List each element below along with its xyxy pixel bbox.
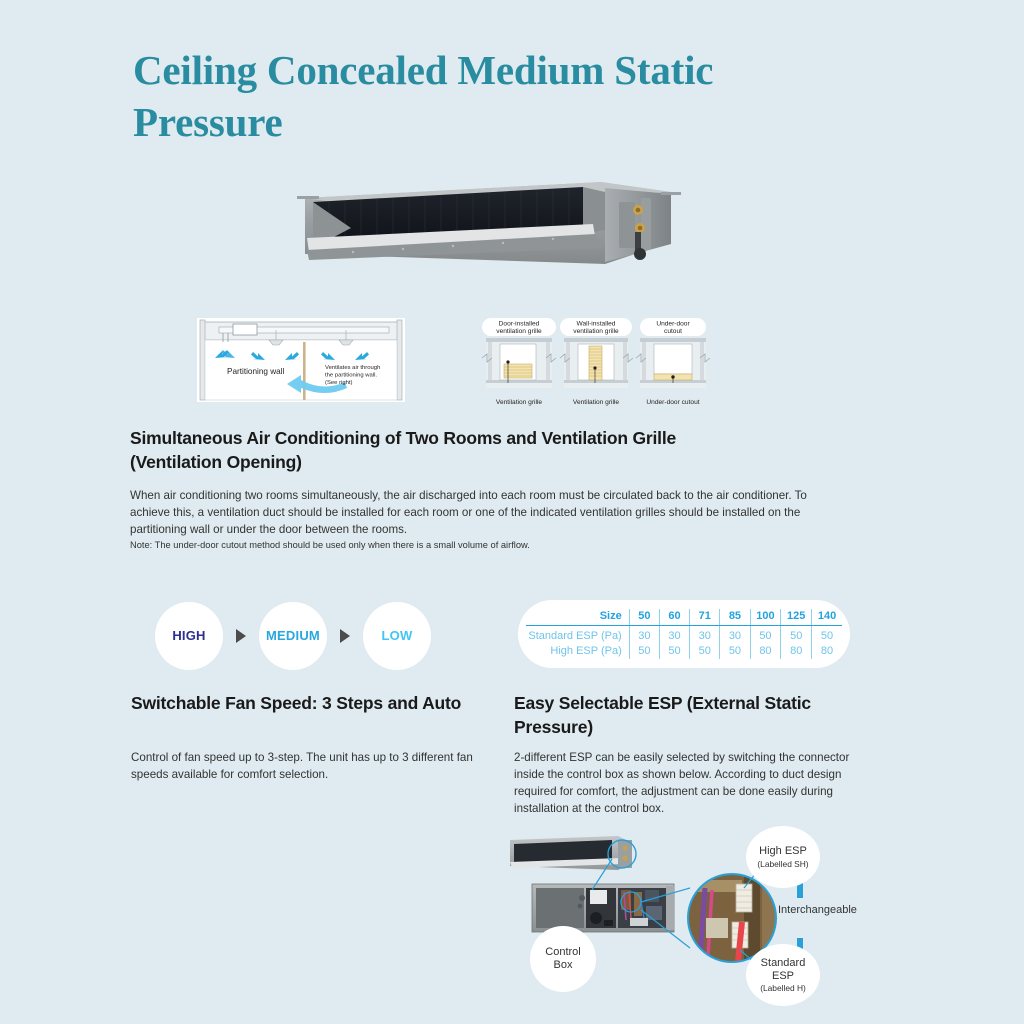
vent-option-door-grille: Door-installed ventilation grille Ventil… [482,318,556,406]
esp-high-50: 50 [629,644,659,659]
esp-standard-125: 50 [781,626,812,645]
svg-text:Ventilation grille: Ventilation grille [496,399,543,406]
page-title: Ceiling Concealed Medium Static Pressure [133,44,833,149]
esp-standard-71: 30 [690,626,720,645]
esp-size-125: 125 [781,609,812,626]
heading-easy-selectable-esp: Easy Selectable ESP (External Static Pre… [514,692,864,739]
esp-high-125: 80 [781,644,812,659]
control-box-label: Control Box [530,926,596,992]
esp-size-60: 60 [659,609,689,626]
svg-text:the partitioning wall.: the partitioning wall. [325,373,377,379]
svg-text:ventilation grille: ventilation grille [573,328,619,335]
standard-esp-label: Standard ESP (Labelled H) [746,944,820,1006]
esp-size-71: 71 [690,609,720,626]
ventilation-options-diagram: Door-installed ventilation grille Ventil… [478,318,712,408]
svg-text:Door-installed: Door-installed [499,321,540,328]
fan-step-high: HIGH [155,602,223,670]
esp-standard-60: 30 [659,626,689,645]
esp-row-high: High ESP (Pa) 50 50 50 50 80 80 80 [526,644,842,659]
fan-step-medium-label: MEDIUM [266,628,320,643]
esp-row-standard-label: Standard ESP (Pa) [526,626,629,645]
partition-wall-label: Partitioning wall [227,367,285,376]
chevron-right-icon-1 [236,629,246,643]
fan-speed-steps: HIGH MEDIUM LOW [155,601,455,670]
svg-text:Ventilation grille: Ventilation grille [573,399,620,406]
esp-high-85: 50 [720,644,750,659]
fan-step-low-label: LOW [382,628,413,643]
vent-option-under-door: Under-door cutout Under-door cutout [636,318,710,406]
esp-size-50: 50 [629,609,659,626]
body-simultaneous-air-conditioning: When air conditioning two rooms simultan… [130,487,820,538]
esp-table-header-size: Size [526,609,629,626]
high-esp-label: High ESP (Labelled SH) [746,826,820,888]
vent-option-wall-grille: Wall-installed ventilation grille Ventil… [560,318,633,406]
body-easy-selectable-esp: 2-different ESP can be easily selected b… [514,749,859,818]
esp-table: Size 50 60 71 85 100 125 140 Standard ES… [526,609,842,659]
product-photo [283,168,683,288]
partition-room-diagram: Partitioning wall Ventilates air through… [197,318,405,402]
esp-size-100: 100 [750,609,781,626]
esp-high-60: 50 [659,644,689,659]
svg-text:Under-door cutout: Under-door cutout [646,399,699,406]
esp-row-standard: Standard ESP (Pa) 30 30 30 30 50 50 50 [526,626,842,645]
esp-high-71: 50 [690,644,720,659]
svg-text:Wall-installed: Wall-installed [577,321,616,328]
chevron-right-icon-2 [340,629,350,643]
heading-simultaneous-air-conditioning: Simultaneous Air Conditioning of Two Roo… [130,427,770,474]
svg-text:(See right): (See right) [325,380,353,386]
esp-standard-140: 50 [812,626,842,645]
svg-text:Ventilates air through: Ventilates air through [325,365,380,371]
fan-step-low: LOW [363,602,431,670]
esp-standard-50: 30 [629,626,659,645]
note-under-door-cutout: Note: The under-door cutout method shoul… [130,539,820,552]
fan-step-high-label: HIGH [172,628,205,643]
control-box-photo [532,884,674,932]
heading-switchable-fan-speed: Switchable Fan Speed: 3 Steps and Auto [131,692,471,716]
esp-table-header-row: Size 50 60 71 85 100 125 140 [526,609,842,626]
svg-text:cutout: cutout [664,328,682,335]
esp-control-box-diagram: Control Box High ESP (Labelled SH) Stand… [500,826,890,1006]
svg-text:Under-door: Under-door [656,321,690,328]
esp-high-140: 80 [812,644,842,659]
interchangeable-label: Interchangeable [778,904,857,916]
body-switchable-fan-speed: Control of fan speed up to 3-step. The u… [131,749,476,783]
svg-text:ventilation grille: ventilation grille [496,328,542,335]
fan-step-medium: MEDIUM [259,602,327,670]
esp-high-100: 80 [750,644,781,659]
esp-table-card: Size 50 60 71 85 100 125 140 Standard ES… [518,600,850,668]
esp-standard-85: 30 [720,626,750,645]
esp-row-high-label: High ESP (Pa) [526,644,629,659]
esp-size-85: 85 [720,609,750,626]
esp-size-140: 140 [812,609,842,626]
brochure-page: Ceiling Concealed Medium Static Pressure [0,0,1024,1024]
esp-standard-100: 50 [750,626,781,645]
